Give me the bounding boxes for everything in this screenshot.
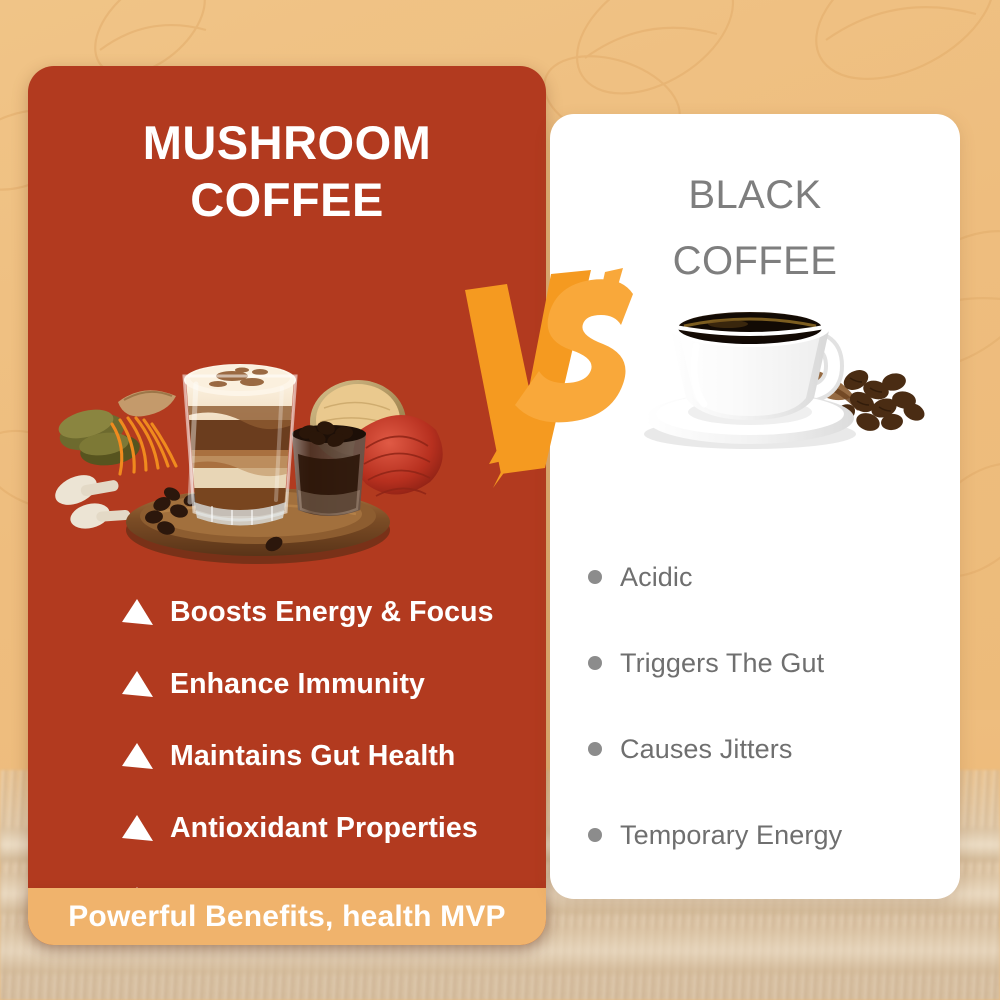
dot-icon — [588, 570, 602, 584]
dot-icon — [588, 742, 602, 756]
triangle-icon — [120, 813, 154, 843]
list-item: Causes Jitters — [588, 706, 948, 792]
triangle-icon — [120, 669, 154, 699]
triangle-icon — [120, 597, 154, 627]
list-item: Acidic — [588, 534, 948, 620]
mushroom-coffee-card: MUSHROOM COFFEE — [28, 66, 546, 945]
black-coffee-title-line1: BLACK — [550, 162, 960, 228]
versus-badge — [455, 268, 645, 488]
benefits-banner: Powerful Benefits, health MVP — [28, 888, 546, 945]
list-item-label: Acidic — [620, 562, 693, 593]
mushroom-coffee-title-line2: COFFEE — [28, 171, 546, 228]
triangle-icon — [120, 741, 154, 771]
list-item-label: Causes Jitters — [620, 734, 792, 765]
benefits-banner-text: Powerful Benefits, health MVP — [68, 900, 506, 934]
black-coffee-card: BLACK COFFEE — [550, 114, 960, 899]
list-item: Temporary Energy — [588, 792, 948, 878]
mushroom-coffee-benefits-list: Boosts Energy & Focus Enhance Immunity M… — [120, 576, 526, 936]
black-coffee-hero-image — [608, 284, 938, 459]
list-item-label: Antioxidant Properties — [170, 812, 478, 845]
dot-icon — [588, 656, 602, 670]
list-item: Antioxidant Properties — [120, 792, 526, 864]
list-item-label: Triggers The Gut — [620, 648, 824, 679]
black-coffee-drawbacks-list: Acidic Triggers The Gut Causes Jitters T… — [588, 534, 948, 878]
list-item-label: Enhance Immunity — [170, 668, 425, 701]
dot-icon — [588, 828, 602, 842]
list-item-label: Boosts Energy & Focus — [170, 596, 494, 629]
list-item: Boosts Energy & Focus — [120, 576, 526, 648]
mushroom-coffee-title-line1: MUSHROOM — [28, 114, 546, 171]
comparison-infographic: MUSHROOM COFFEE — [0, 0, 1000, 1000]
mushroom-coffee-hero-image — [46, 304, 466, 572]
list-item: Triggers The Gut — [588, 620, 948, 706]
mushroom-coffee-title: MUSHROOM COFFEE — [28, 114, 546, 229]
list-item-label: Maintains Gut Health — [170, 740, 455, 773]
list-item: Enhance Immunity — [120, 648, 526, 720]
list-item-label: Temporary Energy — [620, 820, 842, 851]
list-item: Maintains Gut Health — [120, 720, 526, 792]
